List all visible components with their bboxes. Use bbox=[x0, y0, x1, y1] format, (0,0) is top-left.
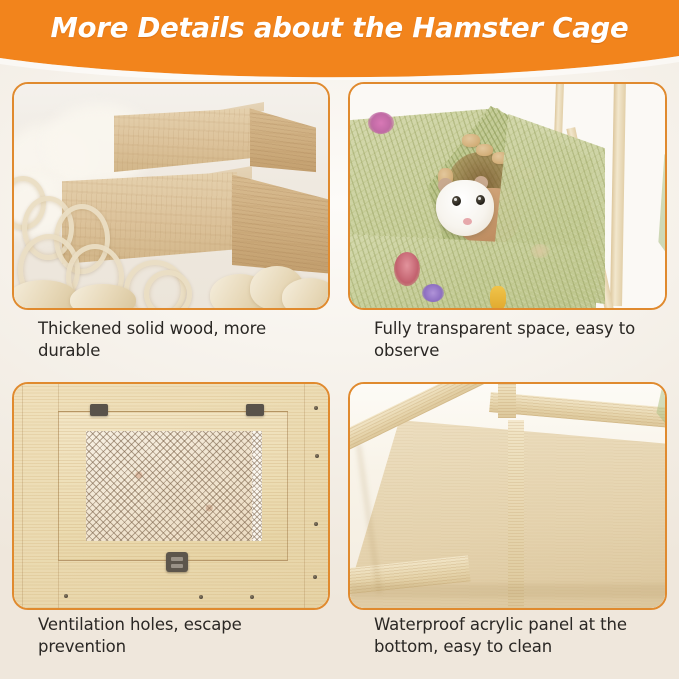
door-latch bbox=[166, 552, 188, 572]
cage-corner-post bbox=[498, 384, 516, 418]
panel-transparent-space bbox=[348, 82, 667, 310]
caption-text: Thickened solid wood, more durable bbox=[12, 318, 324, 362]
dried-flower-yellow bbox=[490, 286, 506, 308]
hamster-eye bbox=[452, 196, 461, 206]
dried-flower-pink bbox=[368, 112, 394, 134]
caption-text: Waterproof acrylic panel at the bottom, … bbox=[348, 614, 660, 658]
door-hinge bbox=[246, 404, 264, 416]
screw bbox=[199, 595, 203, 599]
dried-flower-purple bbox=[422, 284, 444, 302]
hamster-nose bbox=[463, 218, 472, 225]
hamster-eye bbox=[476, 195, 485, 205]
dried-flower-rose bbox=[394, 252, 420, 286]
cage-divider-post bbox=[508, 420, 524, 608]
photo-frame-transparent-space bbox=[348, 82, 667, 310]
dried-flower-cream bbox=[530, 244, 550, 258]
hay-foreground bbox=[350, 234, 596, 308]
plank-seam bbox=[304, 384, 305, 608]
ventilation-mesh bbox=[86, 431, 262, 541]
door-hinge bbox=[90, 404, 108, 416]
caption-transparent-space: Fully transparent space, easy to observe bbox=[348, 318, 660, 362]
caption-acrylic-bottom: Waterproof acrylic panel at the bottom, … bbox=[348, 614, 660, 658]
photo-acrylic-bottom bbox=[350, 384, 665, 608]
photo-ventilation-door bbox=[14, 384, 328, 608]
wood-chip bbox=[476, 144, 493, 156]
ventilation-mesh-edge bbox=[252, 431, 262, 541]
caption-wood-blocks: Thickened solid wood, more durable bbox=[12, 318, 324, 362]
screw bbox=[64, 594, 68, 598]
photo-frame-wood-blocks bbox=[12, 82, 330, 310]
screw bbox=[315, 454, 319, 458]
screw bbox=[314, 522, 318, 526]
screw bbox=[250, 595, 254, 599]
door-latch-detail bbox=[171, 564, 183, 568]
caption-ventilation-holes: Ventilation holes, escape prevention bbox=[12, 614, 324, 658]
tray-shadow bbox=[350, 584, 665, 598]
photo-wood-blocks bbox=[14, 84, 328, 308]
photo-frame-acrylic bbox=[348, 382, 667, 610]
photo-hamster-in-hay bbox=[350, 84, 665, 308]
door-latch-detail bbox=[171, 557, 183, 561]
photo-frame-ventilation bbox=[12, 382, 330, 610]
infographic-page: More Details about the Hamster Cage bbox=[0, 0, 679, 679]
hamster-head bbox=[436, 180, 494, 236]
screw bbox=[314, 406, 318, 410]
panel-wood-blocks bbox=[12, 82, 330, 310]
plank-seam bbox=[22, 384, 23, 608]
panel-ventilation-holes bbox=[12, 382, 330, 610]
panel-acrylic-bottom bbox=[348, 382, 667, 610]
page-title: More Details about the Hamster Cage bbox=[0, 0, 679, 56]
caption-text: Fully transparent space, easy to observe bbox=[348, 318, 660, 362]
screw bbox=[313, 575, 317, 579]
caption-text: Ventilation holes, escape prevention bbox=[12, 614, 324, 658]
wood-shaving-curl bbox=[70, 284, 136, 308]
